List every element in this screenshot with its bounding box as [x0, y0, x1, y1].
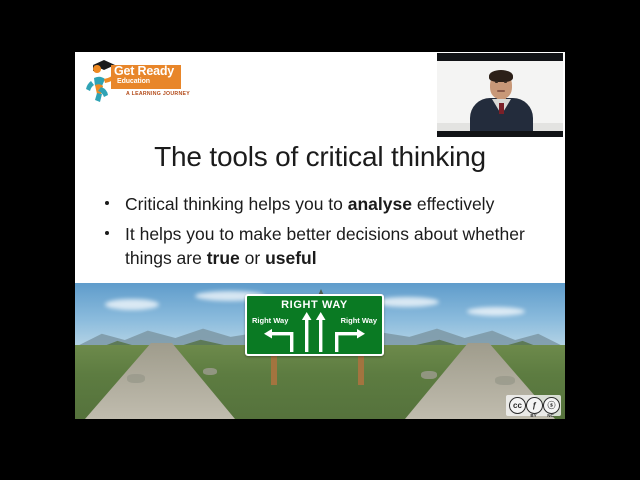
cloud — [105, 299, 159, 310]
cloud — [375, 297, 439, 307]
cc-by-caption: BY — [526, 413, 541, 418]
cloud — [467, 307, 525, 316]
cc-by-icon: ƒ — [526, 397, 543, 414]
logo-brand-sub: Education — [117, 78, 150, 85]
slide-title: The tools of critical thinking — [75, 140, 565, 174]
cc-item: ƒ BY — [526, 397, 541, 414]
presenter-eye-right — [504, 81, 507, 83]
video-player[interactable]: Get Ready Education A LEARNING JOURNEY T… — [0, 0, 640, 480]
cc-nc-icon: ⓢ — [543, 397, 560, 414]
bullet-item: Critical thinking helps you to analyse e… — [99, 192, 549, 216]
sign-title: RIGHT WAY — [247, 299, 382, 311]
rock — [495, 376, 515, 385]
slide-photo: RIGHT WAY Right Way Right Way — [75, 283, 565, 419]
creative-commons-badges: cc ƒ BY ⓢ NC — [506, 395, 561, 416]
presenter-eye-left — [495, 81, 498, 83]
presenter-hair — [489, 70, 513, 82]
presenter-video-inset[interactable] — [437, 53, 563, 137]
bullet-item: It helps you to make better decisions ab… — [99, 222, 549, 270]
slide-bullet-list: Critical thinking helps you to analyse e… — [99, 192, 549, 276]
brand-logo: Get Ready Education A LEARNING JOURNEY — [84, 55, 181, 105]
road-sign: RIGHT WAY Right Way Right Way — [245, 294, 384, 356]
logo-tagline: A LEARNING JOURNEY — [126, 91, 190, 97]
rock — [127, 374, 145, 383]
cc-item: ⓢ NC — [543, 397, 558, 414]
rock — [421, 371, 437, 379]
presenter-mouth — [497, 90, 505, 92]
presentation-slide: Get Ready Education A LEARNING JOURNEY T… — [75, 52, 565, 419]
bullet-dot-icon — [105, 231, 109, 235]
rock — [203, 368, 217, 375]
cc-nc-caption: NC — [543, 413, 558, 418]
presenter-tie — [499, 103, 504, 114]
bullet-text: It helps you to make better decisions ab… — [125, 224, 525, 268]
cc-item: cc — [509, 397, 524, 414]
cc-logo-icon: cc — [509, 397, 526, 414]
sign-arrows-icon — [247, 312, 382, 352]
logo-brand-name: Get Ready — [114, 65, 180, 78]
bullet-dot-icon — [105, 201, 109, 205]
bullet-text: Critical thinking helps you to analyse e… — [125, 194, 494, 214]
